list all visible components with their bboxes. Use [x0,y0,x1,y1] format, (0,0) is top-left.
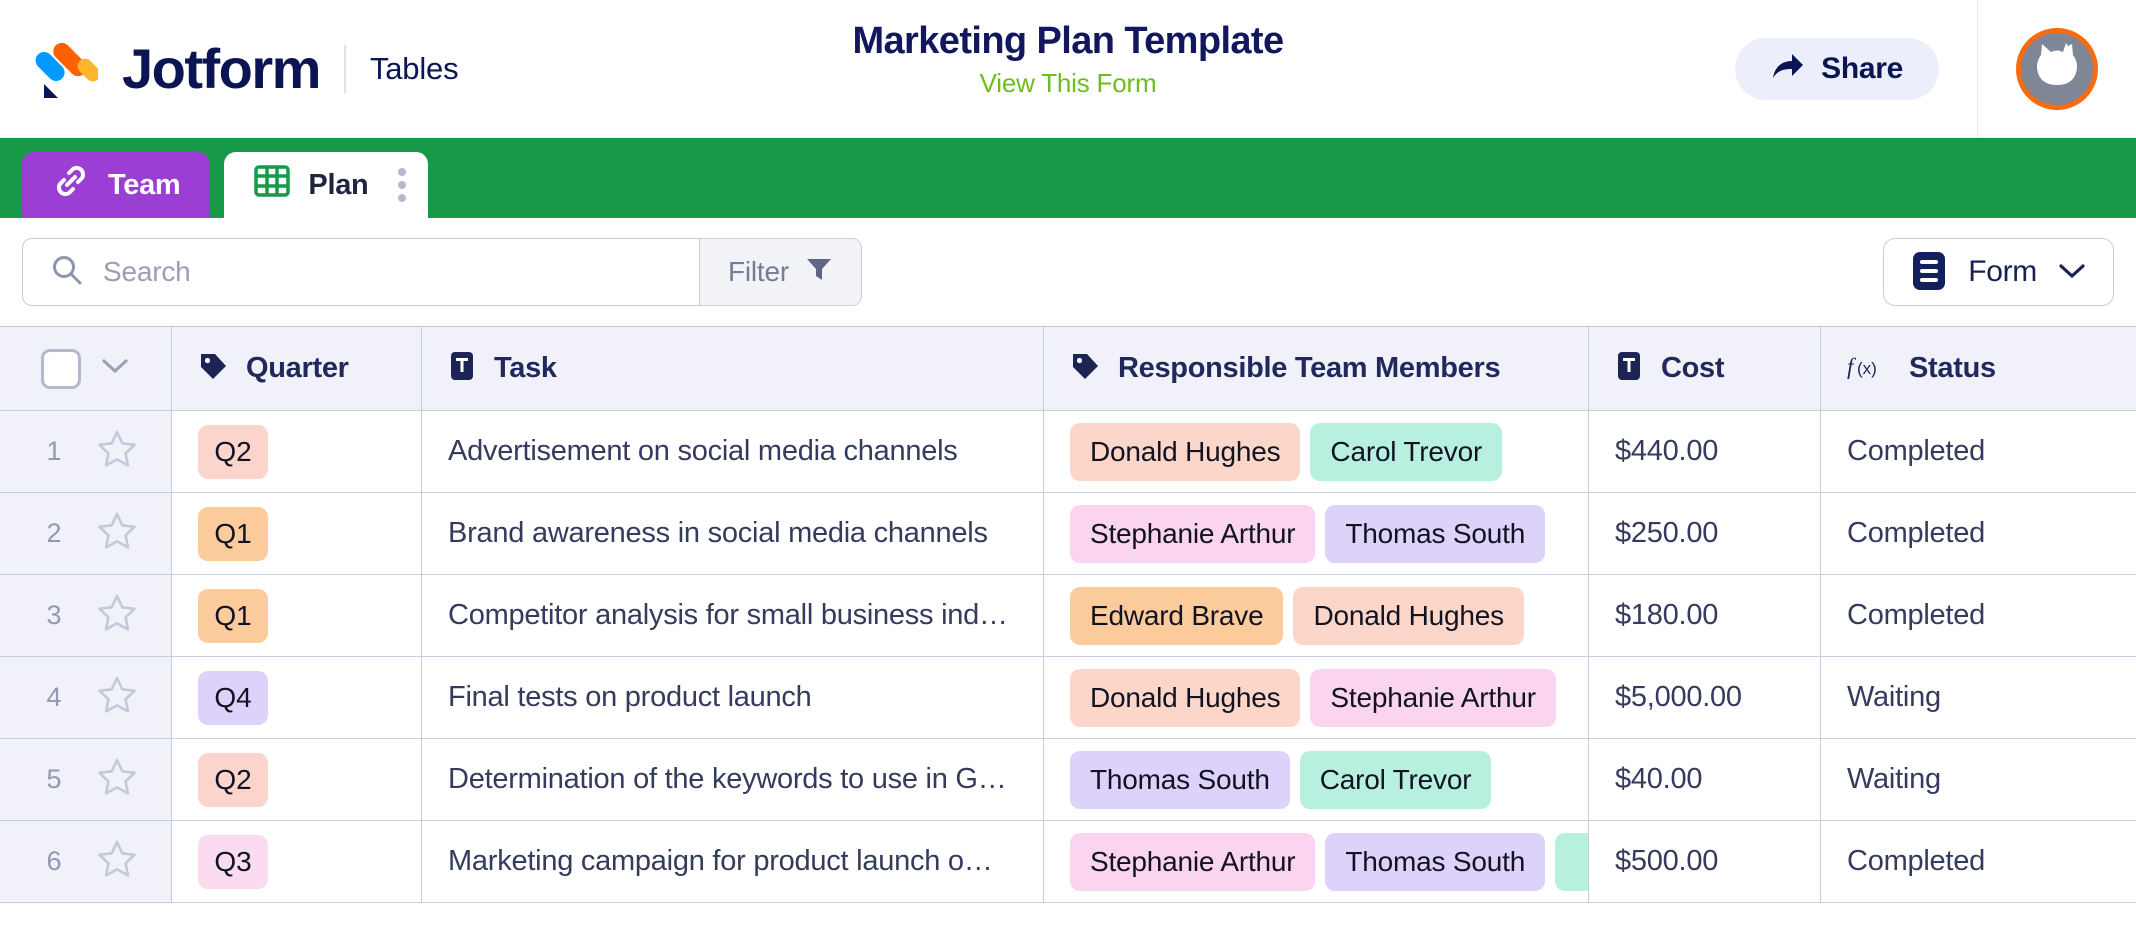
status-text: Waiting [1847,681,1941,714]
cell-task[interactable]: Determination of the keywords to use in … [422,739,1044,820]
member-tag[interactable] [1555,833,1589,891]
row-gutter: 1 [0,411,172,492]
task-text: Advertisement on social media channels [448,435,958,468]
cost-text: $440.00 [1615,435,1718,468]
cost-text: $500.00 [1615,845,1718,878]
cell-quarter[interactable]: Q1 [172,575,422,656]
avatar[interactable] [2016,28,2098,110]
jotform-wordmark[interactable]: Jotform [122,41,320,97]
select-all-checkbox[interactable] [41,349,81,389]
grid-icon [254,163,290,207]
form-view-button-label: Form [1968,255,2037,289]
table-row[interactable]: 3 Q1 Competitor analysis for small busin… [0,575,2136,657]
avatar-container[interactable] [1977,0,2136,137]
member-tag[interactable]: Edward Brave [1070,587,1283,645]
cell-status[interactable]: Waiting [1821,739,2136,820]
star-icon[interactable] [96,756,138,803]
table-toolbar: Filter Form [0,218,2136,326]
row-number: 2 [34,518,62,549]
cell-task[interactable]: Marketing campaign for product launch o… [422,821,1044,902]
cell-cost[interactable]: $180.00 [1589,575,1821,656]
member-tag[interactable]: Donald Hughes [1293,587,1523,645]
cell-cost[interactable]: $500.00 [1589,821,1821,902]
text-field-icon [1615,351,1643,386]
kebab-menu-icon[interactable] [398,168,406,202]
search-field[interactable] [23,239,699,305]
status-text: Waiting [1847,763,1941,796]
member-tag[interactable]: Carol Trevor [1310,423,1502,481]
table-row[interactable]: 6 Q3 Marketing campaign for product laun… [0,821,2136,903]
cell-task[interactable]: Competitor analysis for small business i… [422,575,1044,656]
top-bar-right: Share [1735,0,2136,137]
cell-cost[interactable]: $250.00 [1589,493,1821,574]
table-header-row: Quarter Task Responsible Team Members [0,327,2136,411]
cost-text: $180.00 [1615,599,1718,632]
cell-quarter[interactable]: Q2 [172,739,422,820]
star-icon[interactable] [96,428,138,475]
tab-plan[interactable]: Plan [224,152,428,218]
svg-text:(x): (x) [1857,359,1877,378]
cell-status[interactable]: Completed [1821,821,2136,902]
member-tag[interactable]: Stephanie Arthur [1310,669,1555,727]
row-number: 1 [34,436,62,467]
row-number: 6 [34,846,62,877]
filter-button[interactable]: Filter [699,239,861,305]
tab-strip: Team Plan [0,138,2136,218]
brand-divider [344,45,346,93]
quarter-tag[interactable]: Q1 [198,589,268,643]
tag-icon [1070,351,1100,386]
top-bar: Jotform Tables Marketing Plan Template V… [0,0,2136,138]
star-icon[interactable] [96,674,138,721]
column-header-cost[interactable]: Cost [1589,327,1821,410]
status-text: Completed [1847,517,1985,550]
cell-quarter[interactable]: Q3 [172,821,422,902]
table-body: 1 Q2 Advertisement on social media chann… [0,411,2136,903]
cell-task[interactable]: Final tests on product launch [422,657,1044,738]
star-icon[interactable] [96,592,138,639]
tab-plan-label: Plan [308,169,368,202]
row-gutter: 3 [0,575,172,656]
column-header-members[interactable]: Responsible Team Members [1044,327,1589,410]
cell-members[interactable]: Donald HughesStephanie Arthur [1044,657,1589,738]
data-table: Quarter Task Responsible Team Members [0,326,2136,903]
task-text: Competitor analysis for small business i… [448,599,1008,632]
cell-status[interactable]: Waiting [1821,657,2136,738]
quarter-tag[interactable]: Q1 [198,507,268,561]
cell-status[interactable]: Completed [1821,493,2136,574]
column-header-label: Responsible Team Members [1118,352,1500,385]
cell-status[interactable]: Completed [1821,411,2136,492]
member-tag[interactable]: Stephanie Arthur [1070,833,1315,891]
column-header-label: Cost [1661,352,1724,385]
cell-quarter[interactable]: Q4 [172,657,422,738]
task-text: Final tests on product launch [448,681,812,714]
row-number: 3 [34,600,62,631]
formula-icon: f (x) [1847,351,1891,386]
task-text: Marketing campaign for product launch o… [448,845,993,878]
cell-status[interactable]: Completed [1821,575,2136,656]
cell-cost[interactable]: $5,000.00 [1589,657,1821,738]
jotform-logo-icon[interactable] [34,37,98,101]
star-icon[interactable] [96,510,138,557]
tab-team-label: Team [108,169,180,202]
tab-team[interactable]: Team [22,152,210,218]
cell-members[interactable]: Stephanie ArthurThomas South [1044,493,1589,574]
task-text: Brand awareness in social media channels [448,517,988,550]
cell-quarter[interactable]: Q2 [172,411,422,492]
cat-avatar-icon [2026,35,2088,102]
quarter-tag[interactable]: Q4 [198,671,268,725]
cell-cost[interactable]: $440.00 [1589,411,1821,492]
column-header-status[interactable]: f (x) Status [1821,327,2136,410]
cell-quarter[interactable]: Q1 [172,493,422,574]
status-text: Completed [1847,599,1985,632]
row-gutter: 4 [0,657,172,738]
row-gutter: 5 [0,739,172,820]
text-field-icon [448,351,476,386]
member-tag[interactable]: Carol Trevor [1300,751,1492,809]
row-gutter: 6 [0,821,172,902]
tag-icon [198,351,228,386]
row-gutter: 2 [0,493,172,574]
search-input[interactable] [103,256,699,288]
row-number: 5 [34,764,62,795]
view-this-form-link[interactable]: View This Form [980,66,1157,101]
link-icon [52,162,90,208]
svg-text:f: f [1847,354,1857,379]
member-tag[interactable]: Thomas South [1325,505,1545,563]
column-header-label: Status [1909,352,1996,385]
table-row[interactable]: 2 Q1 Brand awareness in social media cha… [0,493,2136,575]
filter-button-label: Filter [728,256,789,288]
cell-members[interactable]: Stephanie ArthurThomas South [1044,821,1589,902]
cell-task[interactable]: Brand awareness in social media channels [422,493,1044,574]
funnel-icon [805,255,833,290]
status-text: Completed [1847,845,1985,878]
column-header-label: Quarter [246,352,349,385]
chevron-down-icon [2057,261,2087,284]
star-icon[interactable] [96,838,138,885]
table-row[interactable]: 1 Q2 Advertisement on social media chann… [0,411,2136,493]
cost-text: $5,000.00 [1615,681,1742,714]
member-tag[interactable]: Donald Hughes [1070,669,1300,727]
cell-members[interactable]: Edward BraveDonald Hughes [1044,575,1589,656]
product-name-tables[interactable]: Tables [370,51,458,87]
cell-cost[interactable]: $40.00 [1589,739,1821,820]
search-icon [51,254,83,291]
search-container: Filter [22,238,862,306]
cell-members[interactable]: Donald HughesCarol Trevor [1044,411,1589,492]
cell-task[interactable]: Advertisement on social media channels [422,411,1044,492]
member-tag[interactable]: Donald Hughes [1070,423,1300,481]
chevron-down-icon[interactable] [99,356,131,381]
status-text: Completed [1847,435,1985,468]
cost-text: $40.00 [1615,763,1702,796]
member-tag[interactable]: Thomas South [1070,751,1290,809]
share-button-label: Share [1821,52,1903,86]
cell-members[interactable]: Thomas SouthCarol Trevor [1044,739,1589,820]
share-button[interactable]: Share [1735,38,1939,100]
brand-block: Jotform Tables [0,37,458,101]
column-header-task[interactable]: Task [422,327,1044,410]
column-header-quarter[interactable]: Quarter [172,327,422,410]
row-number: 4 [34,682,62,713]
share-arrow-icon [1771,52,1805,85]
form-view-button[interactable]: Form [1883,238,2114,306]
table-row[interactable]: 5 Q2 Determination of the keywords to us… [0,739,2136,821]
member-tag[interactable]: Thomas South [1325,833,1545,891]
member-tag[interactable]: Stephanie Arthur [1070,505,1315,563]
form-document-icon [1910,250,1948,295]
header-gutter [0,327,172,410]
table-row[interactable]: 4 Q4 Final tests on product launch Donal… [0,657,2136,739]
quarter-tag[interactable]: Q2 [198,753,268,807]
quarter-tag[interactable]: Q3 [198,835,268,889]
cost-text: $250.00 [1615,517,1718,550]
column-header-label: Task [494,352,557,385]
quarter-tag[interactable]: Q2 [198,425,268,479]
task-text: Determination of the keywords to use in … [448,763,1006,796]
